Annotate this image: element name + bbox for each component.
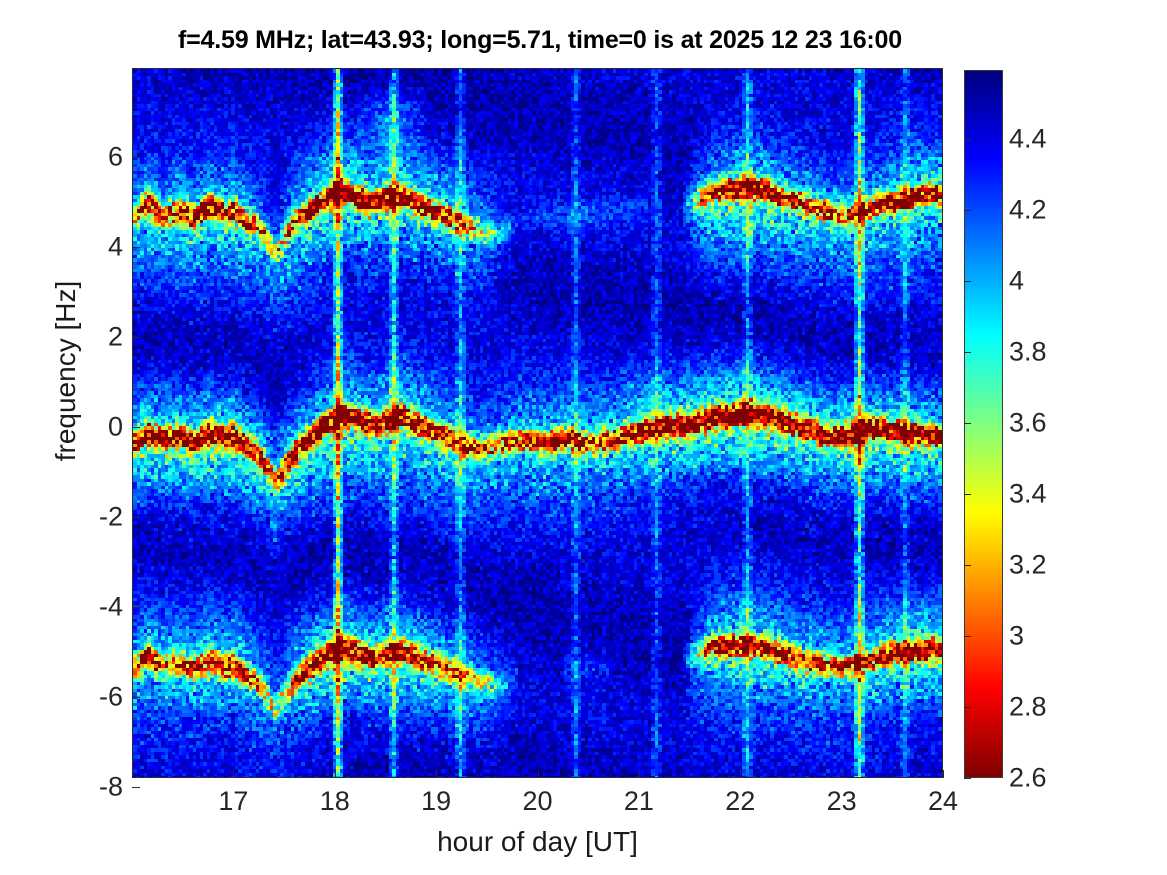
y-tick-mark	[132, 427, 140, 428]
colorbar-tick-label: 2.6	[1009, 763, 1047, 794]
y-tick-label: -8	[63, 771, 123, 802]
colorbar-tick-mark	[964, 778, 971, 779]
x-tick-label: 20	[498, 786, 578, 817]
spectrogram-image	[133, 69, 943, 778]
x-tick-mark	[842, 770, 843, 778]
x-tick-label: 17	[193, 786, 273, 817]
y-tick-label: -4	[63, 592, 123, 623]
colorbar-tick-label: 3.8	[1009, 336, 1047, 367]
colorbar-tick-mark	[964, 636, 971, 637]
y-tick-mark	[132, 517, 140, 518]
x-tick-label: 23	[802, 786, 882, 817]
y-tick-label: -6	[63, 682, 123, 713]
colorbar-tick-label: 3.4	[1009, 478, 1047, 509]
colorbar-tick-label: 4	[1009, 265, 1024, 296]
y-tick-mark	[132, 787, 140, 788]
colorbar-tick-label: 3	[1009, 620, 1024, 651]
x-tick-mark	[436, 770, 437, 778]
x-tick-mark	[335, 770, 336, 778]
x-tick-label: 19	[396, 786, 476, 817]
x-tick-mark	[740, 770, 741, 778]
colorbar-tick-mark	[964, 352, 971, 353]
colorbar-tick-mark	[964, 139, 971, 140]
y-tick-mark	[132, 607, 140, 608]
colorbar-tick-mark	[964, 423, 971, 424]
figure-title: f=4.59 MHz; lat=43.93; long=5.71, time=0…	[0, 26, 1080, 55]
y-tick-mark	[132, 697, 140, 698]
colorbar-gradient	[965, 71, 1002, 777]
colorbar-tick-label: 3.2	[1009, 549, 1047, 580]
x-tick-mark	[538, 770, 539, 778]
x-tick-label: 22	[700, 786, 780, 817]
colorbar[interactable]	[964, 70, 1003, 778]
colorbar-tick-mark	[964, 707, 971, 708]
y-tick-mark	[132, 337, 140, 338]
y-axis-label: frequency [Hz]	[50, 171, 82, 571]
colorbar-tick-mark	[964, 494, 971, 495]
x-tick-mark	[943, 770, 944, 778]
x-tick-label: 21	[599, 786, 679, 817]
y-tick-mark	[132, 247, 140, 248]
colorbar-tick-label: 2.8	[1009, 691, 1047, 722]
colorbar-tick-label: 3.6	[1009, 407, 1047, 438]
x-tick-mark	[233, 770, 234, 778]
y-tick-mark	[132, 157, 140, 158]
colorbar-tick-mark	[964, 281, 971, 282]
x-tick-label: 24	[903, 786, 983, 817]
x-tick-mark	[639, 770, 640, 778]
y-tick-label: 6	[63, 142, 123, 173]
colorbar-tick-mark	[964, 565, 971, 566]
colorbar-tick-label: 4.2	[1009, 194, 1047, 225]
figure-window: f=4.59 MHz; lat=43.93; long=5.71, time=0…	[0, 0, 1167, 875]
colorbar-tick-label: 4.4	[1009, 123, 1047, 154]
x-axis-label: hour of day [UT]	[132, 826, 943, 858]
spectrogram-axes[interactable]	[132, 68, 943, 778]
x-tick-label: 18	[295, 786, 375, 817]
colorbar-tick-mark	[964, 210, 971, 211]
